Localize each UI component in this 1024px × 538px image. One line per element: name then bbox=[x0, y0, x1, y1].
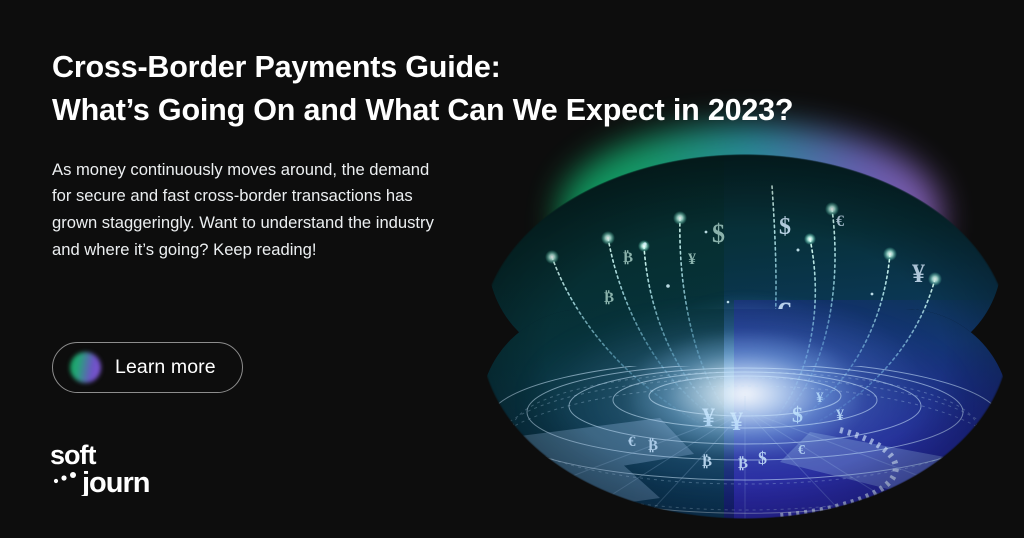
page-title: Cross-Border Payments Guide: What’s Goin… bbox=[52, 46, 482, 133]
artwork-mask: ₿ ₿ ¥ ₿ € ¥ ₿ $ ¥ $ bbox=[480, 154, 1010, 519]
learn-more-label: Learn more bbox=[115, 356, 216, 379]
svg-text:soft: soft bbox=[50, 440, 97, 470]
svg-text:journ: journ bbox=[81, 467, 150, 496]
softjourn-logo-mark: soft journ bbox=[50, 440, 170, 496]
softjourn-logo[interactable]: soft journ bbox=[50, 440, 170, 496]
body-description: As money continuously moves around, the … bbox=[52, 157, 452, 265]
text-column: Cross-Border Payments Guide: What’s Goin… bbox=[52, 46, 482, 264]
promo-banner: Cross-Border Payments Guide: What’s Goin… bbox=[0, 0, 1024, 538]
gradient-circle-icon bbox=[70, 352, 101, 383]
artwork-lobe-bottom: € ₿ ₿ ₿ $ € ¥ ¥ $ ¥ ¥ bbox=[480, 309, 1010, 519]
global-payments-illustration: ₿ ₿ ¥ ₿ € ¥ ₿ $ ¥ $ bbox=[480, 124, 1010, 519]
headline-line-1: Cross-Border Payments Guide: bbox=[52, 50, 501, 84]
headline-line-2: What’s Going On and What Can We Expect i… bbox=[52, 89, 482, 132]
learn-more-button[interactable]: Learn more bbox=[52, 342, 243, 393]
